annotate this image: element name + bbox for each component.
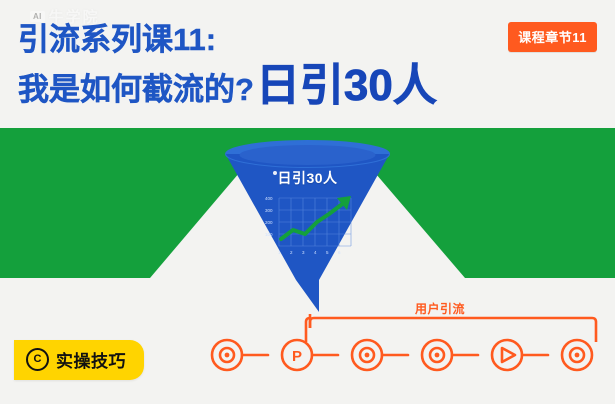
flow-diagram: P bbox=[210, 300, 605, 380]
funnel-label: 日引30人 bbox=[225, 168, 390, 188]
flow-node-5 bbox=[492, 340, 522, 370]
svg-text:3: 3 bbox=[302, 250, 305, 255]
svg-text:100: 100 bbox=[265, 232, 273, 237]
headline-highlight: 日引30人 bbox=[256, 64, 437, 108]
headline-line-2-row: 我是如何截流的? 日引30人 bbox=[18, 64, 598, 112]
svg-text:5: 5 bbox=[326, 250, 329, 255]
flow-node-4 bbox=[422, 340, 452, 370]
svg-text:4: 4 bbox=[314, 250, 317, 255]
green-wing-right bbox=[352, 128, 615, 278]
copyright-icon: C bbox=[26, 348, 49, 371]
skill-tag: C 实操技巧 bbox=[14, 340, 144, 380]
svg-text:200: 200 bbox=[265, 220, 273, 225]
flow-node-6 bbox=[562, 340, 592, 370]
svg-text:300: 300 bbox=[265, 208, 273, 213]
flow-node-3 bbox=[352, 340, 382, 370]
flow-node-1 bbox=[212, 340, 242, 370]
funnel-mini-chart: 400 300 200 100 1 2 3 4 5 6 bbox=[263, 194, 355, 264]
svg-text:1: 1 bbox=[278, 250, 281, 255]
flow-node-2: P bbox=[282, 340, 312, 370]
headline: 引流系列课11: 我是如何截流的? 日引30人 bbox=[18, 20, 598, 112]
headline-line-1: 引流系列课11: bbox=[18, 20, 598, 60]
svg-text:P: P bbox=[292, 348, 302, 365]
headline-line-2: 我是如何截流的? bbox=[18, 68, 254, 112]
svg-text:6: 6 bbox=[338, 250, 341, 255]
poster-canvas: AI 牛学院 课程章节11 引流系列课11: 我是如何截流的? 日引30人 日引… bbox=[0, 0, 615, 404]
green-wing-left bbox=[0, 128, 262, 278]
skill-tag-label: 实操技巧 bbox=[56, 347, 126, 372]
funnel-shape: 日引30人 400 bbox=[225, 140, 390, 315]
svg-text:400: 400 bbox=[265, 196, 273, 201]
svg-text:2: 2 bbox=[290, 250, 293, 255]
